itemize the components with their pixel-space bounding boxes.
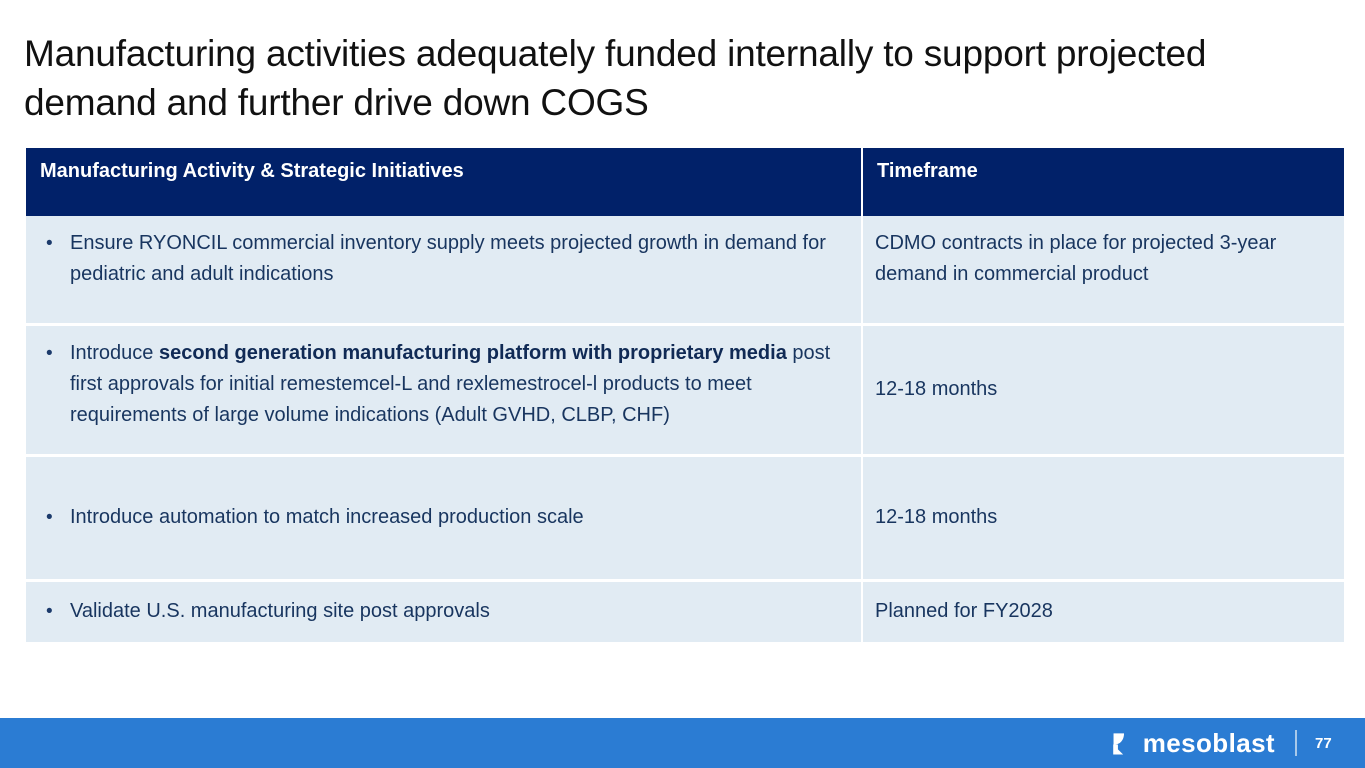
footer-divider <box>1295 730 1297 756</box>
timeframe-cell: 12-18 months <box>862 324 1344 455</box>
bullet-icon: • <box>40 596 70 627</box>
table-row: • Ensure RYONCIL commercial inventory su… <box>26 216 1344 324</box>
mesoblast-pinwheel-icon <box>1110 730 1137 757</box>
table-row: • Introduce automation to match increase… <box>26 455 1344 580</box>
manufacturing-activities-table: Manufacturing Activity & Strategic Initi… <box>26 148 1344 642</box>
page-number: 77 <box>1315 735 1337 752</box>
slide: Manufacturing activities adequately fund… <box>0 0 1365 768</box>
timeframe-cell: 12-18 months <box>862 455 1344 580</box>
timeframe-cell: CDMO contracts in place for projected 3-… <box>862 216 1344 324</box>
table-header-row: Manufacturing Activity & Strategic Initi… <box>26 148 1344 216</box>
activity-cell: • Introduce automation to match increase… <box>26 455 862 580</box>
table-row: • Introduce second generation manufactur… <box>26 324 1344 455</box>
brand-logo: mesoblast <box>1110 730 1275 757</box>
bullet-icon: • <box>40 228 70 259</box>
table-row: • Validate U.S. manufacturing site post … <box>26 580 1344 642</box>
activity-cell: • Ensure RYONCIL commercial inventory su… <box>26 216 862 324</box>
activity-text: Introduce automation to match increased … <box>70 502 847 533</box>
column-header-timeframe: Timeframe <box>862 148 1344 216</box>
activity-text: Introduce second generation manufacturin… <box>70 338 847 431</box>
bullet-icon: • <box>40 338 70 369</box>
page-title: Manufacturing activities adequately fund… <box>24 29 1324 127</box>
activity-text: Validate U.S. manufacturing site post ap… <box>70 596 847 627</box>
timeframe-cell: Planned for FY2028 <box>862 580 1344 642</box>
activity-text: Ensure RYONCIL commercial inventory supp… <box>70 228 847 290</box>
column-header-activity: Manufacturing Activity & Strategic Initi… <box>26 148 862 216</box>
slide-footer: mesoblast 77 <box>0 718 1365 768</box>
activity-cell: • Introduce second generation manufactur… <box>26 324 862 455</box>
brand-name: mesoblast <box>1143 730 1275 757</box>
activity-cell: • Validate U.S. manufacturing site post … <box>26 580 862 642</box>
bullet-icon: • <box>40 502 70 533</box>
